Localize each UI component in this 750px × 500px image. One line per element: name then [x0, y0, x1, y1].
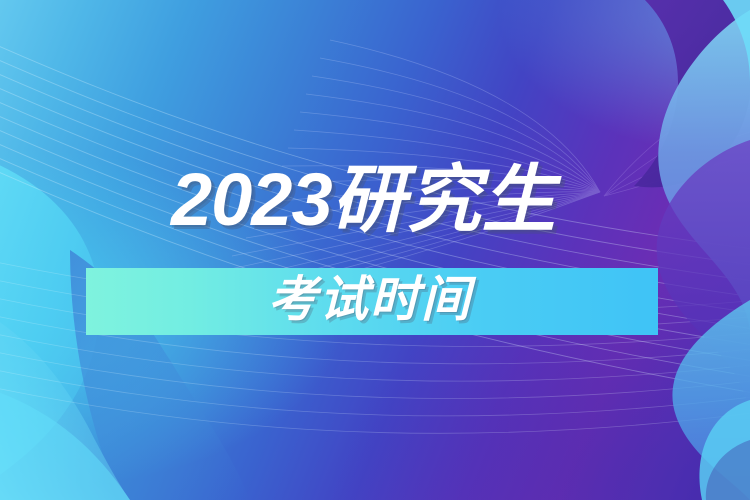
title-year: 2023 — [171, 158, 332, 241]
right-edge-waves — [0, 0, 750, 500]
promo-banner: 2023研究生 考试时间 — [0, 0, 750, 500]
subtitle-bar: 考试时间 — [86, 268, 658, 335]
page-title: 2023研究生 — [171, 163, 557, 237]
subtitle-text: 考试时间 — [268, 276, 472, 325]
title-chinese: 研究生 — [332, 158, 557, 241]
